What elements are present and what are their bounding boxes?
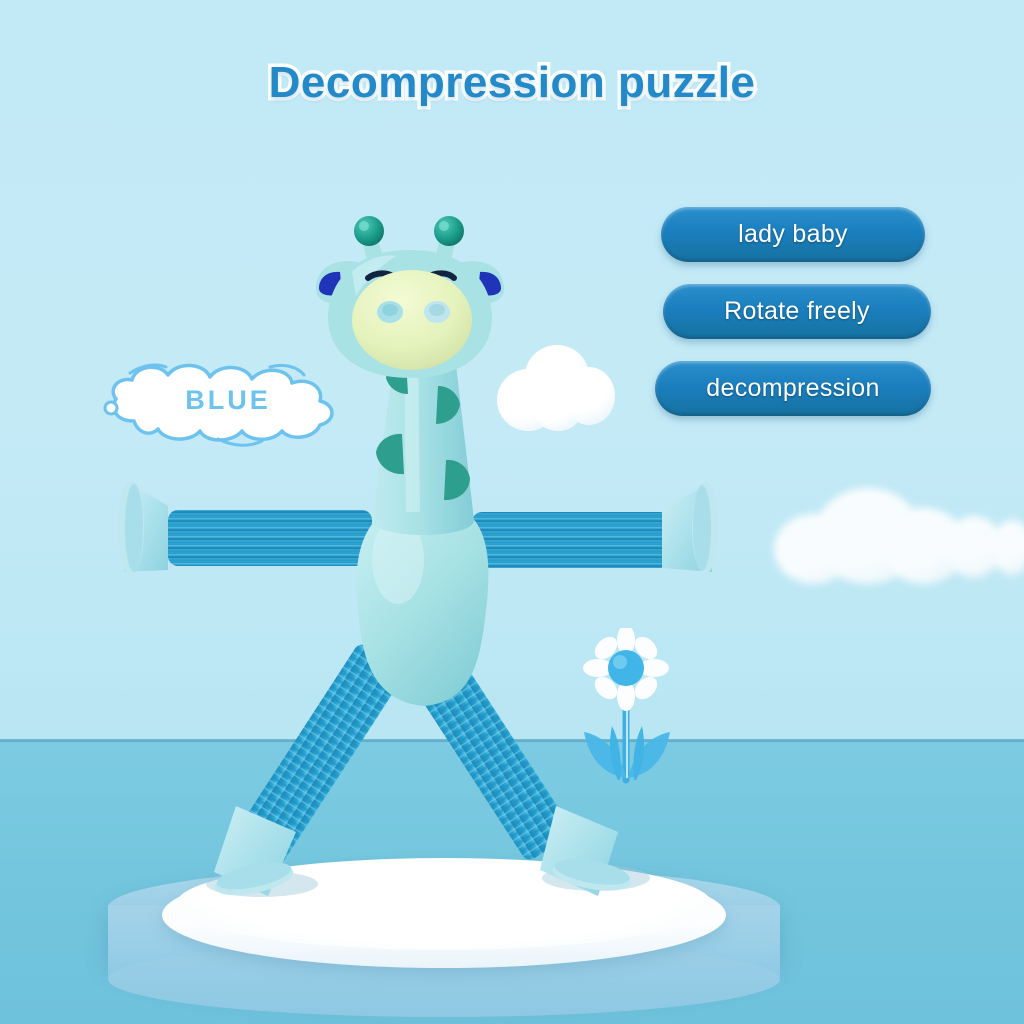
left-arm (118, 481, 372, 575)
muzzle (352, 270, 472, 370)
right-arm (472, 482, 718, 574)
giraffe-toy (0, 0, 1024, 1024)
product-ad-canvas: Decompression puzzle lady baby Rotate fr… (0, 0, 1024, 1024)
giraffe-head (316, 216, 504, 378)
